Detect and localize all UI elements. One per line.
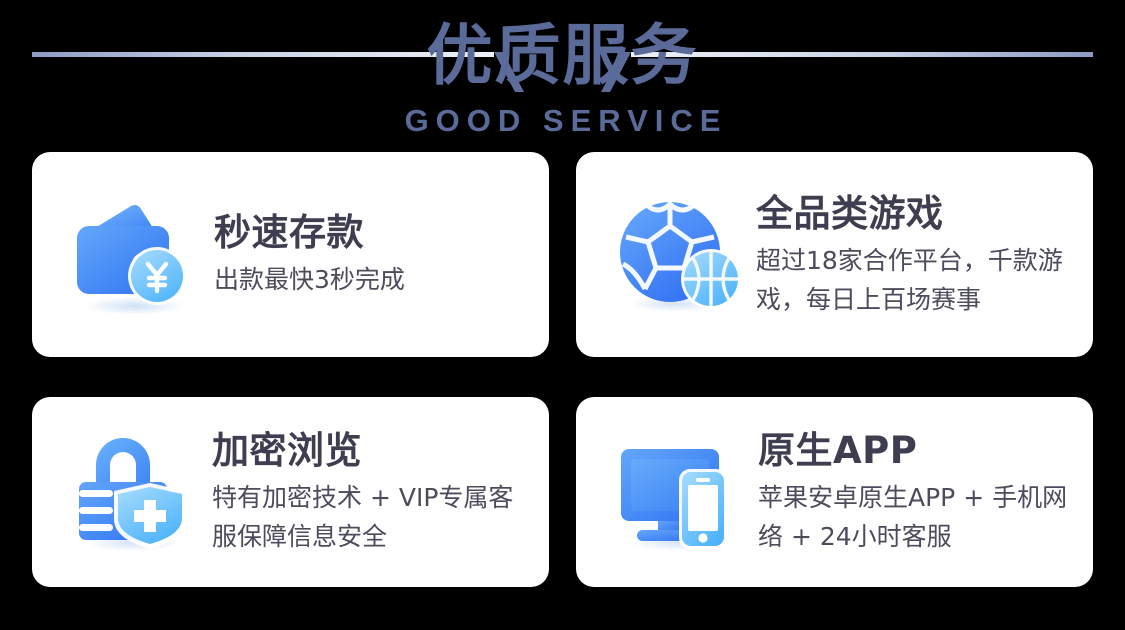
card-description: 特有加密技术 + VIP专属客服保障信息安全 xyxy=(212,474,533,556)
wallet-yen-icon xyxy=(60,190,210,320)
card-description: 出款最快3秒完成 xyxy=(214,256,533,299)
card-description: 苹果安卓原生APP + 手机网络 + 24小时客服 xyxy=(758,474,1077,556)
feature-card-encryption[interactable]: 加密浏览 特有加密技术 + VIP专属客服保障信息安全 xyxy=(32,397,549,587)
page-title: 优质服务 xyxy=(0,0,1125,100)
feature-card-deposit[interactable]: 秒速存款 出款最快3秒完成 xyxy=(32,152,549,357)
lock-shield-icon xyxy=(60,427,210,557)
soccer-basketball-icon xyxy=(604,190,754,320)
feature-card-games[interactable]: 全品类游戏 超过18家合作平台，千款游戏，每日上百场赛事 xyxy=(576,152,1093,357)
card-title: 原生APP xyxy=(758,428,1077,474)
feature-card-text: 全品类游戏 超过18家合作平台，千款游戏，每日上百场赛事 xyxy=(754,191,1093,319)
feature-card-grid: 秒速存款 出款最快3秒完成 xyxy=(32,152,1093,587)
header: 优质服务 GOOD SERVICE xyxy=(0,0,1125,148)
feature-card-native-app[interactable]: 原生APP 苹果安卓原生APP + 手机网络 + 24小时客服 xyxy=(576,397,1093,587)
monitor-phone-icon xyxy=(604,427,754,557)
feature-card-text: 加密浏览 特有加密技术 + VIP专属客服保障信息安全 xyxy=(210,428,549,556)
promo-banner: 优质服务 GOOD SERVICE xyxy=(0,0,1125,630)
feature-card-text: 原生APP 苹果安卓原生APP + 手机网络 + 24小时客服 xyxy=(754,428,1093,556)
card-description: 超过18家合作平台，千款游戏，每日上百场赛事 xyxy=(756,237,1077,319)
card-title: 秒速存款 xyxy=(214,210,533,256)
feature-card-text: 秒速存款 出款最快3秒完成 xyxy=(210,210,549,299)
header-title-block: 优质服务 GOOD SERVICE xyxy=(0,0,1125,140)
card-title: 全品类游戏 xyxy=(756,191,1077,237)
page-subtitle: GOOD SERVICE xyxy=(0,100,1125,140)
card-title: 加密浏览 xyxy=(212,428,533,474)
